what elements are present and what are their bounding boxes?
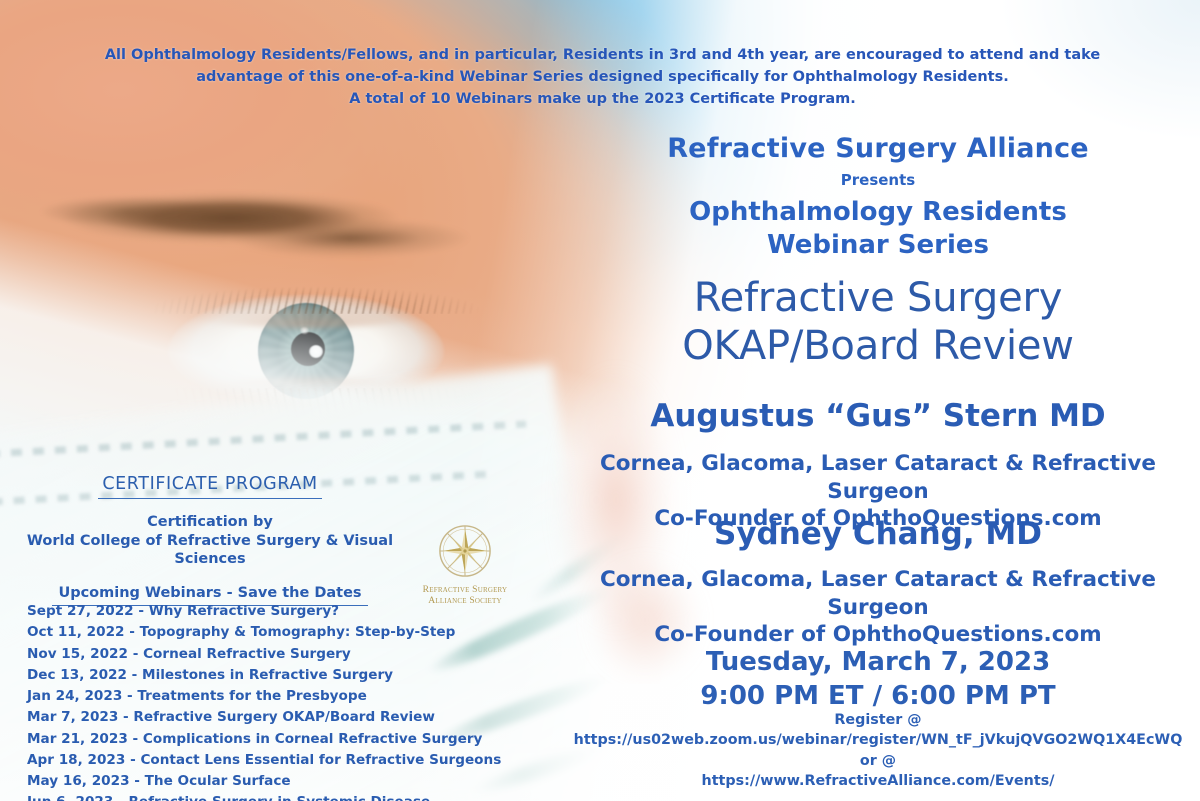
organization-name: Refractive Surgery Alliance: [556, 133, 1200, 164]
speaker-2-credentials: Cornea, Glacoma, Laser Cataract & Refrac…: [548, 566, 1200, 649]
speaker-1-specialty: Cornea, Glacoma, Laser Cataract & Refrac…: [548, 450, 1200, 505]
intro-line-1: All Ophthalmology Residents/Fellows, and…: [70, 45, 1135, 67]
register-label: Register @: [556, 710, 1200, 730]
webinar-list-item: Dec 13, 2022 - Milestones in Refractive …: [27, 665, 497, 686]
society-logo-line-2: Alliance Society: [410, 596, 520, 607]
certifying-body-name: World College of Refractive Surgery & Vi…: [0, 532, 420, 569]
speaker-1-name: Augustus “Gus” Stern MD: [556, 398, 1200, 434]
society-logo-text: Refractive Surgery Alliance Society: [410, 585, 520, 606]
registration-info: Register @ https://us02web.zoom.us/webin…: [556, 710, 1200, 791]
event-title-line-1: Refractive Surgery: [556, 274, 1200, 322]
certificate-program-section: CERTIFICATE PROGRAM Certification by Wor…: [0, 474, 420, 606]
webinar-flyer: All Ophthalmology Residents/Fellows, and…: [0, 0, 1200, 801]
series-name-line-1: Ophthalmology Residents: [556, 196, 1200, 229]
webinar-list-item: Apr 18, 2023 - Contact Lens Essential fo…: [27, 750, 497, 771]
intro-line-2: advantage of this one-of-a-kind Webinar …: [70, 67, 1135, 89]
event-title-line-2: OKAP/Board Review: [556, 322, 1200, 370]
intro-line-3: A total of 10 Webinars make up the 2023 …: [70, 89, 1135, 111]
compass-rose-icon: [432, 518, 498, 584]
alliance-events-link[interactable]: https://www.RefractiveAlliance.com/Event…: [556, 771, 1200, 791]
webinar-series-name: Ophthalmology Residents Webinar Series: [556, 196, 1200, 261]
event-time: 9:00 PM ET / 6:00 PM PT: [556, 679, 1200, 713]
webinar-list-item: Mar 21, 2023 - Complications in Corneal …: [27, 729, 497, 750]
certification-by-label: Certification by: [0, 513, 420, 532]
event-date: Tuesday, March 7, 2023: [556, 645, 1200, 679]
speaker-2-name: Sydney Chang, MD: [556, 516, 1200, 552]
speaker-2-specialty: Cornea, Glacoma, Laser Cataract & Refrac…: [548, 566, 1200, 621]
event-title: Refractive Surgery OKAP/Board Review: [556, 274, 1200, 370]
series-name-line-2: Webinar Series: [556, 229, 1200, 262]
or-label: or @: [556, 751, 1200, 771]
society-logo: Refractive Surgery Alliance Society: [410, 518, 520, 606]
certificate-program-heading: CERTIFICATE PROGRAM: [98, 474, 321, 499]
webinar-list-item: May 16, 2023 - The Ocular Surface: [27, 771, 497, 792]
intro-paragraph: All Ophthalmology Residents/Fellows, and…: [70, 45, 1135, 110]
flyer-content: All Ophthalmology Residents/Fellows, and…: [0, 0, 1200, 801]
webinar-list-item: Jan 24, 2023 - Treatments for the Presby…: [27, 686, 497, 707]
presents-label: Presents: [556, 171, 1200, 189]
webinar-list-item: Mar 7, 2023 - Refractive Surgery OKAP/Bo…: [27, 707, 497, 728]
webinar-list-item: Jun 6, 2023 - Refractive Surgery in Syst…: [27, 792, 497, 801]
zoom-registration-link[interactable]: https://us02web.zoom.us/webinar/register…: [556, 730, 1200, 750]
certification-body-block: Certification by World College of Refrac…: [0, 513, 420, 569]
event-datetime: Tuesday, March 7, 2023 9:00 PM ET / 6:00…: [556, 645, 1200, 714]
webinar-schedule-list: Sept 27, 2022 - Why Refractive Surgery?O…: [27, 601, 497, 801]
webinar-list-item: Nov 15, 2022 - Corneal Refractive Surger…: [27, 644, 497, 665]
webinar-list-item: Oct 11, 2022 - Topography & Tomography: …: [27, 622, 497, 643]
